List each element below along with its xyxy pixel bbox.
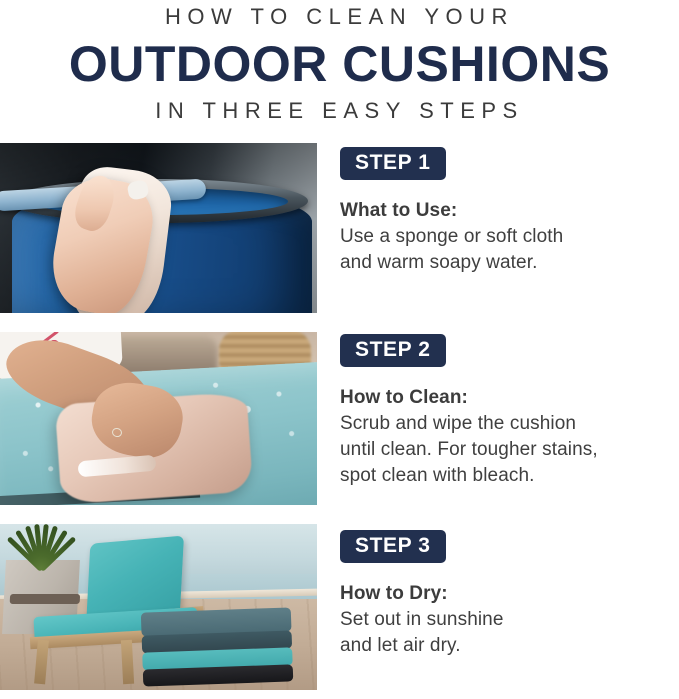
step-3-body: Set out in sunshine and let air dry.: [340, 607, 679, 659]
step-row-3: STEP 3 How to Dry: Set out in sunshine a…: [0, 524, 679, 690]
step-2-line-2: until clean. For tougher stains,: [340, 437, 679, 463]
step-1-badge: STEP 1: [340, 147, 446, 180]
step-2-photo: [0, 332, 317, 505]
step-row-1: STEP 1 What to Use: Use a sponge or soft…: [0, 143, 679, 313]
step-2-badge: STEP 2: [340, 334, 446, 367]
stacked-cushions: [141, 607, 293, 684]
step-3-content: STEP 3 How to Dry: Set out in sunshine a…: [340, 524, 679, 690]
step-1-content: STEP 1 What to Use: Use a sponge or soft…: [340, 143, 679, 313]
planter-soil: [10, 594, 81, 604]
agave-plant: [8, 524, 78, 570]
step-1-heading: What to Use:: [340, 199, 679, 223]
chaise-leg-back: [121, 640, 134, 685]
step-1-line-1: Use a sponge or soft cloth: [340, 224, 679, 250]
step-3-line-2: and let air dry.: [340, 633, 679, 659]
step-2-heading: How to Clean:: [340, 386, 679, 410]
step-1-line-2: and warm soapy water.: [340, 250, 679, 276]
step-2-line-1: Scrub and wipe the cushion: [340, 411, 679, 437]
step-row-2: STEP 2 How to Clean: Scrub and wipe the …: [0, 332, 679, 505]
infographic-header: HOW TO CLEAN YOUR OUTDOOR CUSHIONS IN TH…: [0, 0, 679, 126]
header-kicker: HOW TO CLEAN YOUR: [0, 2, 679, 32]
page-title: OUTDOOR CUSHIONS: [0, 36, 679, 92]
step-3-photo: [0, 524, 317, 690]
step-2-body: Scrub and wipe the cushion until clean. …: [340, 411, 679, 489]
step-2-content: STEP 2 How to Clean: Scrub and wipe the …: [340, 332, 679, 505]
header-subtitle: IN THREE EASY STEPS: [0, 96, 679, 126]
step-1-body: Use a sponge or soft cloth and warm soap…: [340, 224, 679, 276]
step-3-line-1: Set out in sunshine: [340, 607, 679, 633]
step-3-heading: How to Dry:: [340, 582, 679, 606]
step-1-photo: [0, 143, 317, 313]
step-3-badge: STEP 3: [340, 530, 446, 563]
step-2-line-3: spot clean with bleach.: [340, 463, 679, 489]
